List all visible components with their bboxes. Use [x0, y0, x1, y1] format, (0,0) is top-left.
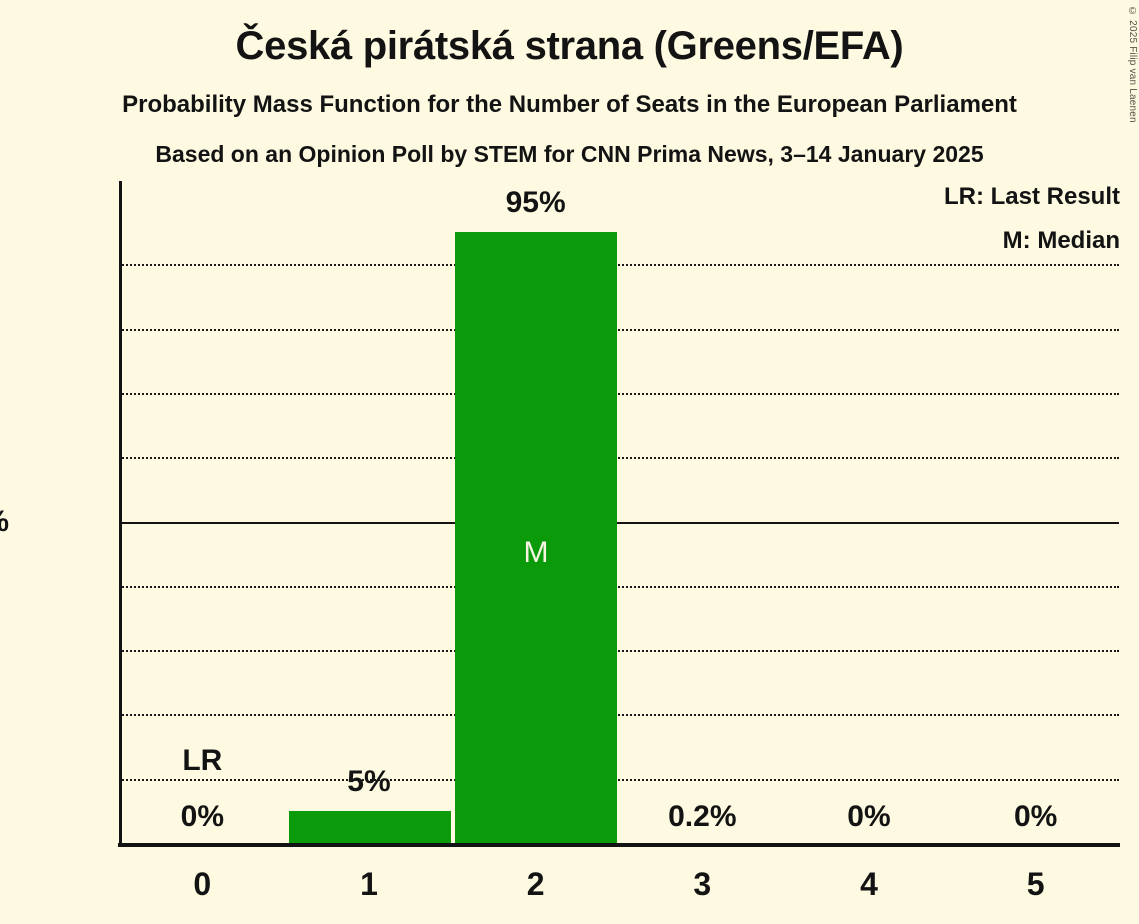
value-label-seat-2: 95% — [452, 188, 619, 218]
x-tick-2: 2 — [452, 868, 619, 900]
x-tick-4: 4 — [786, 868, 953, 900]
x-axis-line — [118, 843, 1120, 847]
value-label-seat-4: 0% — [786, 802, 953, 832]
value-label-seat-3: 0.2% — [619, 802, 786, 832]
chart-subtitle: Probability Mass Function for the Number… — [0, 93, 1139, 117]
x-tick-1: 1 — [286, 868, 453, 900]
bar-seat-1[interactable] — [289, 811, 451, 843]
x-tick-3: 3 — [619, 868, 786, 900]
median-marker: M — [455, 536, 617, 570]
gridline-90 — [119, 264, 1119, 266]
page-title: Česká pirátská strana (Greens/EFA) — [0, 26, 1139, 66]
gridline-60 — [119, 457, 1119, 459]
gridline-20 — [119, 714, 1119, 716]
gridline-10 — [119, 779, 1119, 781]
x-tick-5: 5 — [952, 868, 1119, 900]
x-tick-0: 0 — [119, 868, 286, 900]
value-label-seat-0: 0% — [119, 802, 286, 832]
y-tick-50%: 50% — [0, 507, 9, 537]
copyright-notice: © 2025 Filip van Laenen — [1122, 6, 1138, 126]
gridline-40 — [119, 586, 1119, 588]
chart-header: Česká pirátská strana (Greens/EFA) Proba… — [0, 0, 1139, 166]
value-label-seat-1: 5% — [286, 767, 453, 797]
last-result-marker: LR — [119, 746, 286, 776]
bar-seat-2[interactable]: M — [455, 232, 617, 843]
chart-source-note: Based on an Opinion Poll by STEM for CNN… — [0, 143, 1139, 166]
gridline-30 — [119, 650, 1119, 652]
value-label-seat-5: 0% — [952, 802, 1119, 832]
gridline-50 — [119, 522, 1119, 524]
gridline-80 — [119, 329, 1119, 331]
gridline-70 — [119, 393, 1119, 395]
